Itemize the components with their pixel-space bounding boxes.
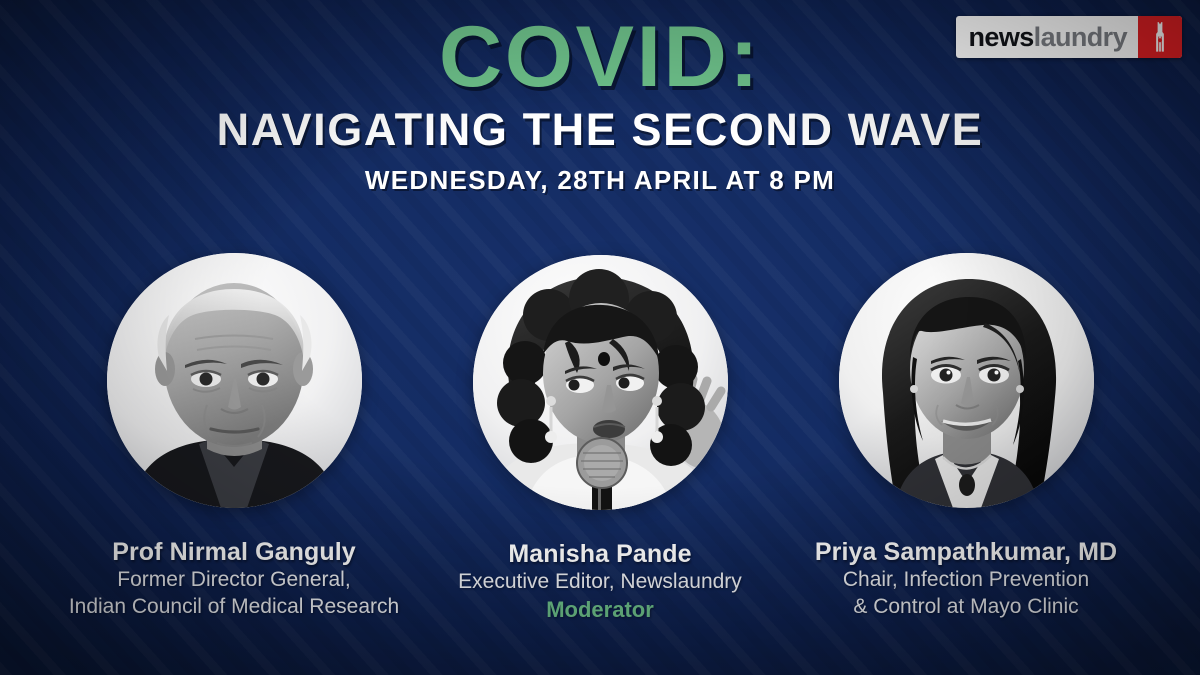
event-poster: newslaundry COVID: NAVIGATING THE SECOND…	[0, 0, 1200, 675]
speaker-card: Prof Nirmal Ganguly Former Director Gene…	[51, 253, 417, 621]
speaker-card: Priya Sampathkumar, MD Chair, Infection …	[783, 253, 1149, 621]
speaker-title-line-2: & Control at Mayo Clinic	[783, 594, 1149, 621]
avatar	[107, 253, 362, 508]
speaker-name: Manisha Pande	[417, 540, 783, 569]
title-block: COVID: NAVIGATING THE SECOND WAVE WEDNES…	[0, 14, 1200, 196]
speaker-title-line-1: Chair, Infection Prevention	[783, 567, 1149, 594]
speaker-card: Manisha Pande Executive Editor, Newslaun…	[417, 255, 783, 624]
speaker-title-line-2: Indian Council of Medical Research	[51, 594, 417, 621]
event-datetime: WEDNESDAY, 28TH APRIL AT 8 PM	[0, 165, 1200, 196]
avatar	[473, 255, 728, 510]
speaker-role-moderator: Moderator	[417, 596, 783, 625]
page-title: COVID:	[0, 14, 1200, 102]
speaker-name: Prof Nirmal Ganguly	[51, 538, 417, 567]
page-subtitle: NAVIGATING THE SECOND WAVE	[0, 106, 1200, 153]
speaker-title-line-1: Executive Editor, Newslaundry	[417, 569, 783, 596]
speaker-name: Priya Sampathkumar, MD	[783, 538, 1149, 567]
avatar	[839, 253, 1094, 508]
speaker-title-line-1: Former Director General,	[51, 567, 417, 594]
speaker-list: Prof Nirmal Ganguly Former Director Gene…	[0, 253, 1200, 624]
